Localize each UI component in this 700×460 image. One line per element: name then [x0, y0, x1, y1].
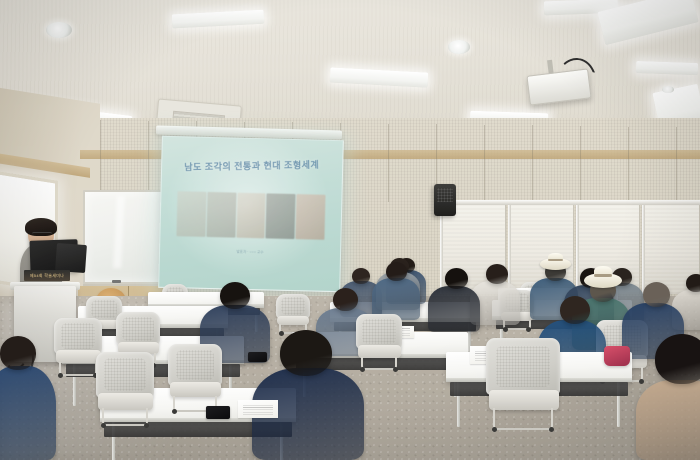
room-contents [0, 0, 700, 460]
lecture-hall-photo: 남도 조각의 전통과 현대 조형세계 발표자 · ○○○ 교수 제54회 학술세… [0, 0, 700, 460]
attendee-woman-foreground-hair-torso [636, 380, 700, 460]
attendee-woman-foreground-hair [0, 0, 700, 460]
attendee-woman-foreground-hair-head [655, 334, 700, 384]
